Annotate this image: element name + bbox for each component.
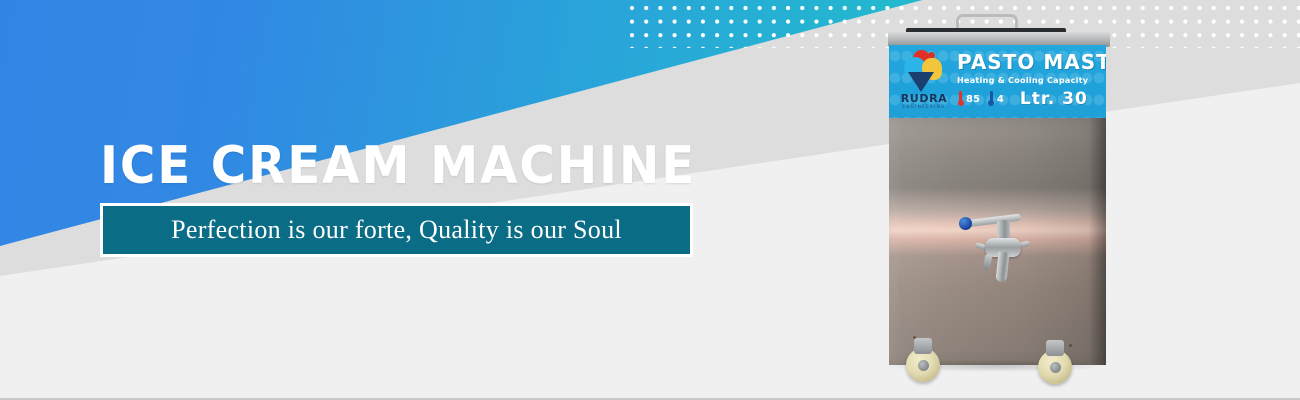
spec-row: 85 4 Ltr. 30 [957, 89, 1102, 109]
tagline-text: Perfection is our forte, Quality is our … [171, 215, 622, 245]
banner-text-block: ICE CREAM MACHINE Perfection is our fort… [100, 140, 741, 257]
volume-capacity: Ltr. 30 [1020, 89, 1088, 109]
page-title: ICE CREAM MACHINE [100, 140, 696, 192]
body-screw [1069, 344, 1072, 347]
caster-fork [914, 338, 932, 354]
product-model-name: PASTO MASTER [957, 51, 1102, 73]
caster-hub [1050, 362, 1061, 373]
heating-value: 85 [966, 94, 980, 105]
product-label-panel: RUDRA ENGINEERING PASTO MASTER Heating &… [889, 45, 1106, 119]
tap-knob [959, 217, 972, 230]
caster-fork [1046, 340, 1064, 356]
brand-name: RUDRA [895, 93, 953, 104]
ice-cream-cone-icon [897, 50, 951, 92]
product-image-ice-cream-machine: RUDRA ENGINEERING PASTO MASTER Heating &… [884, 14, 1112, 386]
thermometer-cold-icon [988, 91, 995, 107]
promo-banner: ICE CREAM MACHINE Perfection is our fort… [0, 0, 1300, 400]
caster-wheel-right [1038, 350, 1072, 384]
cone-body [908, 72, 934, 92]
body-right-edge-shading [1090, 118, 1106, 365]
brand-subtitle: ENGINEERING [895, 104, 953, 110]
dispensing-tap-valve [959, 208, 1039, 288]
cooling-value: 4 [997, 94, 1004, 105]
machine-body [889, 118, 1106, 365]
tagline-box: Perfection is our forte, Quality is our … [100, 203, 693, 257]
caster-wheel-left [906, 348, 940, 382]
capacity-label: Heating & Cooling Capacity [957, 75, 1102, 87]
thermometer-hot-icon [957, 91, 964, 107]
tap-lever [965, 214, 1021, 228]
caster-hub [918, 360, 929, 371]
tap-spout [995, 252, 1009, 283]
brand-logo: RUDRA ENGINEERING [895, 50, 953, 114]
label-text-group: PASTO MASTER Heating & Cooling Capacity … [957, 51, 1102, 109]
tap-screw [982, 253, 992, 270]
